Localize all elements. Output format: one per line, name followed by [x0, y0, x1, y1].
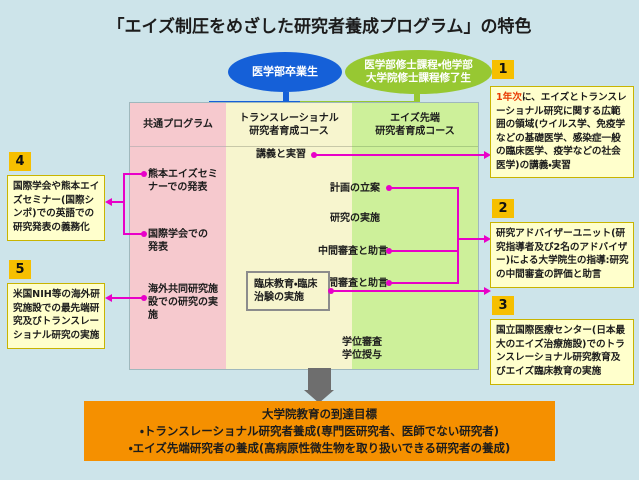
- column-translational-course: トランスレーショナル 研究者育成コース: [226, 103, 352, 369]
- column-translational-course-header: トランスレーショナル 研究者育成コース: [226, 103, 352, 147]
- node-clinical-line1: 臨床教育・臨床: [254, 279, 317, 290]
- source-ellipse-medical-graduate-label: 医学部卒業生: [252, 65, 318, 78]
- page-title: 「エイズ制圧をめざした研究者養成プログラム」の特色: [0, 12, 639, 37]
- column-translational-header-line2: 研究者育成コース: [249, 126, 329, 137]
- source-ellipse-master-graduate: 医学部修士課程・他学部 大学院修士課程修了生: [345, 50, 492, 94]
- panel-1-text: に、エイズとトランスレーショナル研究に関する広範囲の領域(ウイルス学、免疫学など…: [496, 92, 627, 171]
- node-research-execution: 研究の実施: [330, 212, 380, 225]
- panel-4: 国際学会や熊本エイズセミナー(国際シンポ)での英語での研究発表の義務化: [7, 175, 105, 241]
- source-label-line2: 大学院修士課程修了生: [366, 72, 471, 84]
- connector-bracket-vertical-left: [123, 173, 125, 235]
- panel-2: 研究アドバイザーユニット(研究指導者及び2名のアドバイザー)による大学院生の指導…: [490, 222, 634, 288]
- node-overseas-line2: 設での研究の実: [148, 297, 218, 308]
- panel-5: 米国NIH等の海外研究施設での最先端研究及びトランスレーショナル研究の実施: [7, 283, 105, 349]
- node-international-conference: 国際学会での 発表: [148, 228, 228, 254]
- connector-line-interim1: [389, 250, 459, 252]
- panel-1-highlight: 1年次: [496, 92, 522, 103]
- connector-line-overseas-to-panel5: [112, 297, 143, 299]
- badge-3: 3: [492, 296, 514, 315]
- connector-bracket-vertical-right: [457, 187, 459, 284]
- node-kumamoto-line1: 熊本エイズセミ: [148, 169, 218, 180]
- source-ellipse-medical-graduate: 医学部卒業生: [228, 52, 342, 92]
- column-aids-course: エイズ先端 研究者育成コース: [352, 103, 478, 369]
- node-lectures-and-practice: 講義と実習: [256, 148, 306, 161]
- source-label-line1: 医学部修士課程・他学部: [364, 59, 473, 71]
- node-degree-review-line2: 学位授与: [342, 350, 382, 361]
- source-ellipse-master-graduate-label: 医学部修士課程・他学部 大学院修士課程修了生: [364, 59, 473, 85]
- connector-line-interim2: [389, 282, 459, 284]
- node-international-line2: 発表: [148, 242, 168, 253]
- connector-line-clinical-to-panel3: [331, 290, 484, 292]
- node-plan-formulation: 計画の立案: [330, 182, 380, 195]
- panel-5-text: 米国NIH等の海外研究施設での最先端研究及びトランスレーショナル研究の実施: [13, 289, 100, 341]
- goal-bullet-2: ・エイズ先端研究者の養成(高病原性微生物を取り扱いできる研究者の養成): [84, 440, 555, 457]
- column-aids-header-line1: エイズ先端: [390, 113, 440, 124]
- badge-5: 5: [9, 260, 31, 279]
- node-interim-review-1: 中間審査と助言: [318, 245, 388, 258]
- panel-2-text: 研究アドバイザーユニット(研究指導者及び2名のアドバイザー)による大学院生の指導…: [496, 228, 629, 280]
- node-clinical-education-box: 臨床教育・臨床 治験の実施: [246, 271, 330, 311]
- connector-arrow-to-panel5: [105, 294, 112, 302]
- connector-line-kumamoto: [123, 173, 143, 175]
- column-common-program-header: 共通プログラム: [130, 103, 226, 147]
- column-translational-header-line1: トランスレーショナル: [239, 113, 339, 124]
- badge-1: 1: [492, 60, 514, 79]
- node-clinical-line2: 治験の実施: [254, 292, 304, 303]
- node-international-line1: 国際学会での: [148, 229, 208, 240]
- column-aids-course-header: エイズ先端 研究者育成コース: [352, 103, 478, 147]
- badge-2: 2: [492, 199, 514, 218]
- panel-4-text: 国際学会や熊本エイズセミナー(国際シンポ)での英語での研究発表の義務化: [13, 181, 99, 233]
- connector-line-bracket-to-panel2: [457, 238, 484, 240]
- connector-line-lectures-to-panel1: [314, 154, 484, 156]
- panel-3-text: 国立国際医療センター(日本最大のエイズ治療施設)でのトランスレーショナル研究教育…: [496, 325, 625, 377]
- node-degree-review: 学位審査 学位授与: [342, 336, 382, 362]
- node-degree-review-line1: 学位審査: [342, 337, 382, 348]
- goal-box: 大学院教育の到達目標 ・トランスレーショナル研究者養成(専門医研究者、医師でない…: [84, 401, 555, 461]
- goal-heading: 大学院教育の到達目標: [84, 406, 555, 423]
- column-aids-header-line2: 研究者育成コース: [375, 126, 455, 137]
- blue-connector-stem: [283, 92, 289, 101]
- goal-bullet-1: ・トランスレーショナル研究者養成(専門医研究者、医師でない研究者): [84, 423, 555, 440]
- green-connector-stem: [414, 94, 420, 101]
- connector-line-international: [123, 233, 143, 235]
- connector-line-bracket-to-panel4: [112, 201, 125, 203]
- badge-4: 4: [9, 152, 31, 171]
- node-kumamoto-line2: ナーでの発表: [148, 182, 207, 193]
- down-arrow-stem: [308, 368, 331, 390]
- node-overseas-line3: 施: [148, 310, 158, 321]
- panel-3: 国立国際医療センター(日本最大のエイズ治療施設)でのトランスレーショナル研究教育…: [490, 319, 634, 385]
- panel-1: 1年次に、エイズとトランスレーショナル研究に関する広範囲の領域(ウイルス学、免疫…: [490, 86, 634, 178]
- connector-arrow-to-panel4: [105, 198, 112, 206]
- node-overseas-line1: 海外共同研究施: [148, 284, 218, 295]
- node-overseas-joint-research: 海外共同研究施 設での研究の実 施: [148, 283, 230, 322]
- connector-line-plan: [389, 187, 459, 189]
- node-kumamoto-seminar: 熊本エイズセミ ナーでの発表: [148, 168, 228, 194]
- diagram-canvas: 「エイズ制圧をめざした研究者養成プログラム」の特色 医学部卒業生 医学部修士課程…: [0, 0, 639, 480]
